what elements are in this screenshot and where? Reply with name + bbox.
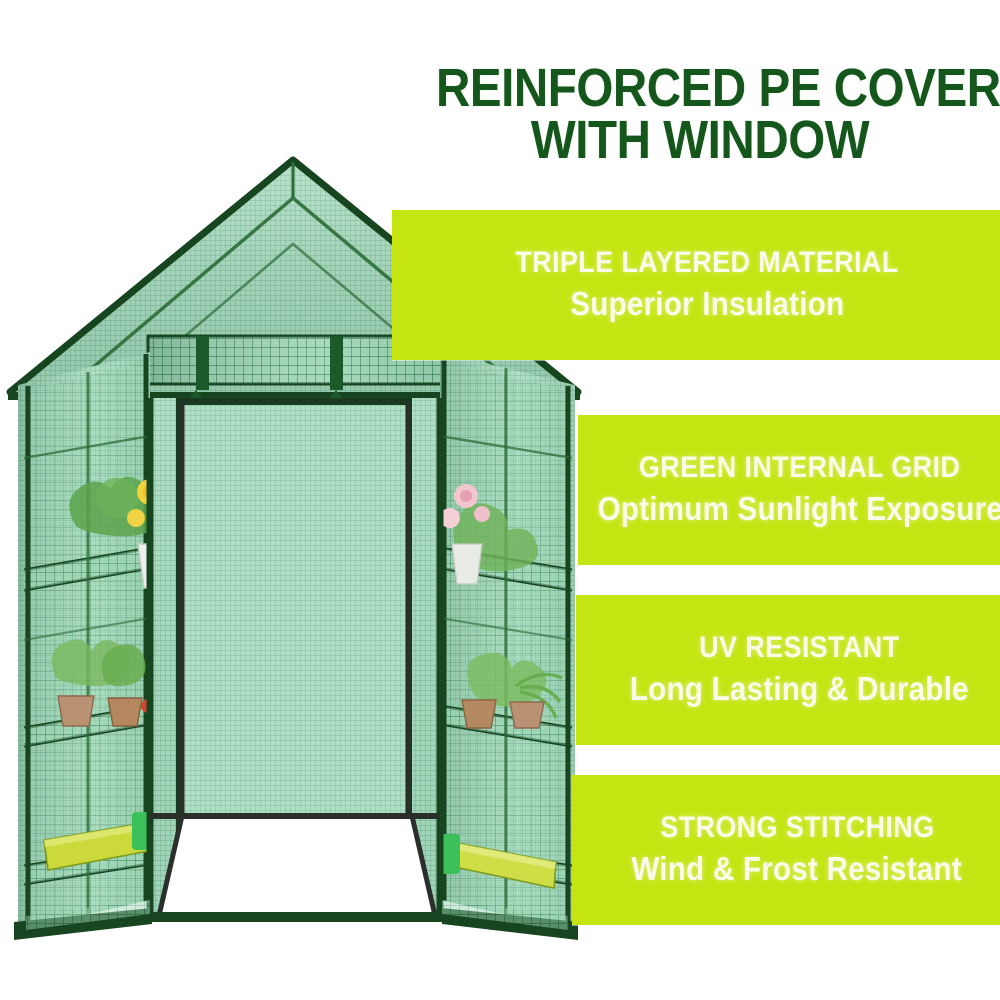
page-title-line-2: WITH WINDOW <box>436 114 964 166</box>
feature-bar-uv-resistant: UV RESISTANT Long Lasting & Durable <box>576 595 1000 745</box>
feature-title: GREEN INTERNAL GRID <box>639 451 960 486</box>
feature-bar-strong-stitching: STRONG STITCHING Wind & Frost Resistant <box>572 775 1000 925</box>
feature-bar-triple-layered-material: TRIPLE LAYERED MATERIAL Superior Insulat… <box>392 210 1000 360</box>
feature-bar-green-internal-grid: GREEN INTERNAL GRID Optimum Sunlight Exp… <box>578 415 1000 565</box>
feature-subtitle: Long Lasting & Durable <box>630 669 969 709</box>
feature-title: UV RESISTANT <box>699 631 899 666</box>
feature-subtitle: Optimum Sunlight Exposure <box>597 489 1000 529</box>
page-title: REINFORCED PE COVER WITH WINDOW <box>436 62 964 167</box>
product-feature-image: REINFORCED PE COVER WITH WINDOW TRIPLE L… <box>0 0 1000 1000</box>
page-title-line-1: REINFORCED PE COVER <box>436 62 964 114</box>
feature-subtitle: Superior Insulation <box>570 284 844 324</box>
feature-title: STRONG STITCHING <box>660 811 934 846</box>
feature-subtitle: Wind & Frost Resistant <box>632 849 962 889</box>
feature-title: TRIPLE LAYERED MATERIAL <box>515 246 898 281</box>
